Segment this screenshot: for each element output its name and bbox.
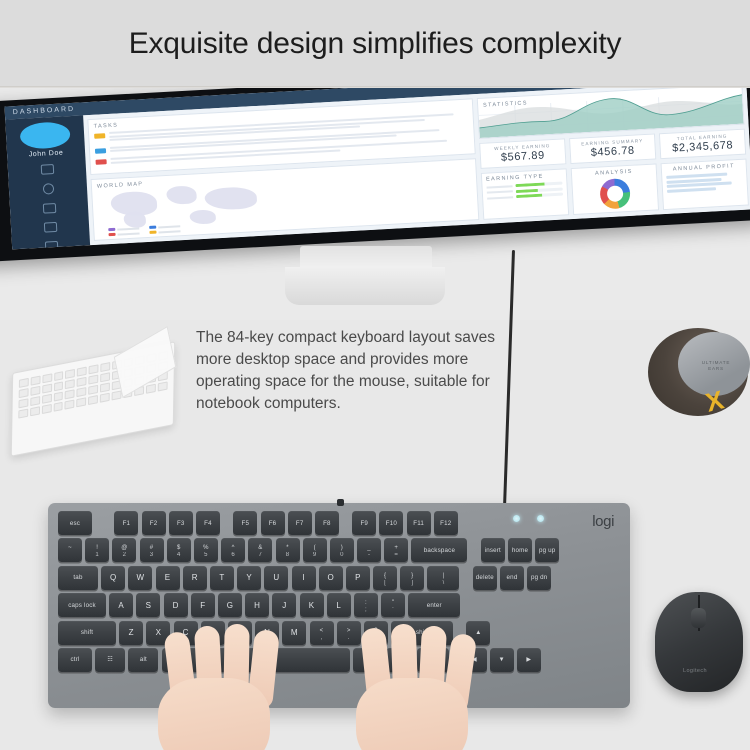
monitor-screen: DASHBOARD John Doe <box>4 88 750 249</box>
key-e[interactable]: E <box>156 566 180 590</box>
key-pgdn[interactable]: pg dn <box>527 566 551 590</box>
key-t[interactable]: T <box>210 566 234 590</box>
task-chip <box>94 133 105 139</box>
key-z[interactable]: Z <box>119 621 143 645</box>
key-tab[interactable]: tab <box>58 566 98 590</box>
key-minus[interactable]: _- <box>357 538 381 562</box>
key-f1[interactable]: F1 <box>114 511 138 535</box>
monitor-bezel: DASHBOARD John Doe <box>0 88 750 264</box>
num-lock-led-icon <box>537 515 544 522</box>
key-esc[interactable]: esc <box>58 511 92 535</box>
dashboard-title: DASHBOARD <box>5 106 76 117</box>
kpi-card: WEEKLY EARNING $567.89 <box>479 138 566 169</box>
key-j[interactable]: J <box>272 593 296 617</box>
speaker-brand: ULTIMATE EARS <box>694 360 738 372</box>
donut-chart <box>599 178 631 210</box>
key-semicolon[interactable]: :; <box>354 593 378 617</box>
key-w[interactable]: W <box>128 566 152 590</box>
key-insert[interactable]: insert <box>481 538 505 562</box>
product-description: The 84-key compact keyboard layout saves… <box>196 327 496 415</box>
key-4[interactable]: $4 <box>167 538 191 562</box>
sidebar-user-name: John Doe <box>7 148 85 159</box>
headline-band: Exquisite design simplifies complexity <box>0 0 750 88</box>
wireless-mouse[interactable]: Logitech <box>655 592 747 696</box>
lower-panels: EARNING TYPE <box>481 159 749 220</box>
tab-key-row[interactable]: tab Q W E R T Y U I O P {[ }] |\ delete … <box>58 566 620 590</box>
monitor-icon[interactable] <box>40 164 54 175</box>
key-y[interactable]: Y <box>237 566 261 590</box>
number-key-row[interactable]: ~` !1 @2 #3 $4 %5 ^6 &7 *8 (9 )0 _- += b… <box>58 538 620 562</box>
key-k[interactable]: K <box>300 593 324 617</box>
key-pgup[interactable]: pg up <box>535 538 559 562</box>
map-legend <box>108 224 180 236</box>
analysis-title: ANALYSIS <box>576 168 652 178</box>
database-icon[interactable] <box>44 241 58 249</box>
key-left-ctrl[interactable]: ctrl <box>58 648 92 672</box>
mouse-brand: Logitech <box>683 668 707 674</box>
key-q[interactable]: Q <box>101 566 125 590</box>
kpi-card: TOTAL EARNING $2,345,678 <box>659 129 746 160</box>
key-enter[interactable]: enter <box>408 593 460 617</box>
key-f2[interactable]: F2 <box>142 511 166 535</box>
function-key-row[interactable]: esc F1 F2 F3 F4 F5 F6 F7 F8 F9 F10 F11 F… <box>58 511 620 535</box>
key-h[interactable]: H <box>245 593 269 617</box>
key-s[interactable]: S <box>136 593 160 617</box>
key-6[interactable]: ^6 <box>221 538 245 562</box>
kpi-card: EARNING SUMMARY $456.78 <box>569 133 656 164</box>
key-0[interactable]: )0 <box>330 538 354 562</box>
key-delete[interactable]: delete <box>473 566 497 590</box>
chart-bars-icon[interactable] <box>42 203 56 214</box>
earning-type-card: EARNING TYPE <box>481 168 569 220</box>
key-5[interactable]: %5 <box>194 538 218 562</box>
key-f4[interactable]: F4 <box>196 511 220 535</box>
led-indicators <box>513 515 544 522</box>
key-2[interactable]: @2 <box>112 538 136 562</box>
scroll-wheel[interactable] <box>691 608 706 628</box>
annual-profit-card: ANNUAL PROFIT <box>660 159 748 211</box>
compact-keyboard-illustration <box>2 332 182 454</box>
refresh-icon[interactable] <box>42 183 54 195</box>
caps-lock-led-icon <box>513 515 520 522</box>
key-f[interactable]: F <box>191 593 215 617</box>
key-arrow-right-icon[interactable]: ▶ <box>517 648 541 672</box>
cable-port <box>337 499 344 506</box>
key-g[interactable]: G <box>218 593 242 617</box>
key-backtick[interactable]: ~` <box>58 538 82 562</box>
key-f7[interactable]: F7 <box>288 511 312 535</box>
key-equals[interactable]: += <box>384 538 408 562</box>
key-f8[interactable]: F8 <box>315 511 339 535</box>
key-end[interactable]: end <box>500 566 524 590</box>
earning-bar <box>487 193 563 200</box>
key-windows-icon[interactable]: ☷ <box>95 648 125 672</box>
avatar <box>19 121 70 150</box>
key-f5[interactable]: F5 <box>233 511 257 535</box>
left-hand <box>158 678 270 750</box>
key-u[interactable]: U <box>264 566 288 590</box>
key-8[interactable]: *8 <box>276 538 300 562</box>
key-f10[interactable]: F10 <box>379 511 403 535</box>
ultimate-ears-speaker: ULTIMATE EARS X <box>648 322 750 422</box>
speaker-brand-line1: ULTIMATE <box>702 360 730 365</box>
key-quote[interactable]: "' <box>381 593 405 617</box>
key-caps-lock[interactable]: caps lock <box>58 593 106 617</box>
key-bracket-right[interactable]: }] <box>400 566 424 590</box>
key-backslash[interactable]: |\ <box>427 566 459 590</box>
key-1[interactable]: !1 <box>85 538 109 562</box>
key-f9[interactable]: F9 <box>352 511 376 535</box>
key-p[interactable]: P <box>346 566 370 590</box>
page-title: Exquisite design simplifies complexity <box>129 27 622 61</box>
key-f3[interactable]: F3 <box>169 511 193 535</box>
key-i[interactable]: I <box>292 566 316 590</box>
key-a[interactable]: A <box>109 593 133 617</box>
monitor-stand <box>285 267 445 305</box>
key-r[interactable]: R <box>183 566 207 590</box>
task-chip <box>96 159 107 165</box>
key-backspace[interactable]: backspace <box>411 538 467 562</box>
task-chip <box>95 148 106 154</box>
key-d[interactable]: D <box>164 593 188 617</box>
key-3[interactable]: #3 <box>140 538 164 562</box>
folder-icon[interactable] <box>43 222 57 233</box>
key-l[interactable]: L <box>327 593 351 617</box>
annual-profit-title: ANNUAL PROFIT <box>666 163 742 173</box>
key-9[interactable]: (9 <box>303 538 327 562</box>
key-7[interactable]: &7 <box>248 538 272 562</box>
key-bracket-left[interactable]: {[ <box>373 566 397 590</box>
key-f12[interactable]: F12 <box>434 511 458 535</box>
typing-hands <box>150 638 510 750</box>
key-o[interactable]: O <box>319 566 343 590</box>
key-f6[interactable]: F6 <box>261 511 285 535</box>
brand-logo: logi <box>592 513 614 530</box>
analysis-card: ANALYSIS <box>571 163 659 215</box>
right-hand <box>356 678 468 750</box>
dashboard-sidebar[interactable]: John Doe <box>5 115 90 249</box>
home-key-row[interactable]: caps lock A S D F G H J K L :; "' enter <box>58 593 620 617</box>
product-marketing-page: Exquisite design simplifies complexity D… <box>0 0 750 750</box>
speaker-brand-line2: EARS <box>708 366 724 371</box>
key-left-shift[interactable]: shift <box>58 621 116 645</box>
key-home[interactable]: home <box>508 538 532 562</box>
key-f11[interactable]: F11 <box>407 511 431 535</box>
